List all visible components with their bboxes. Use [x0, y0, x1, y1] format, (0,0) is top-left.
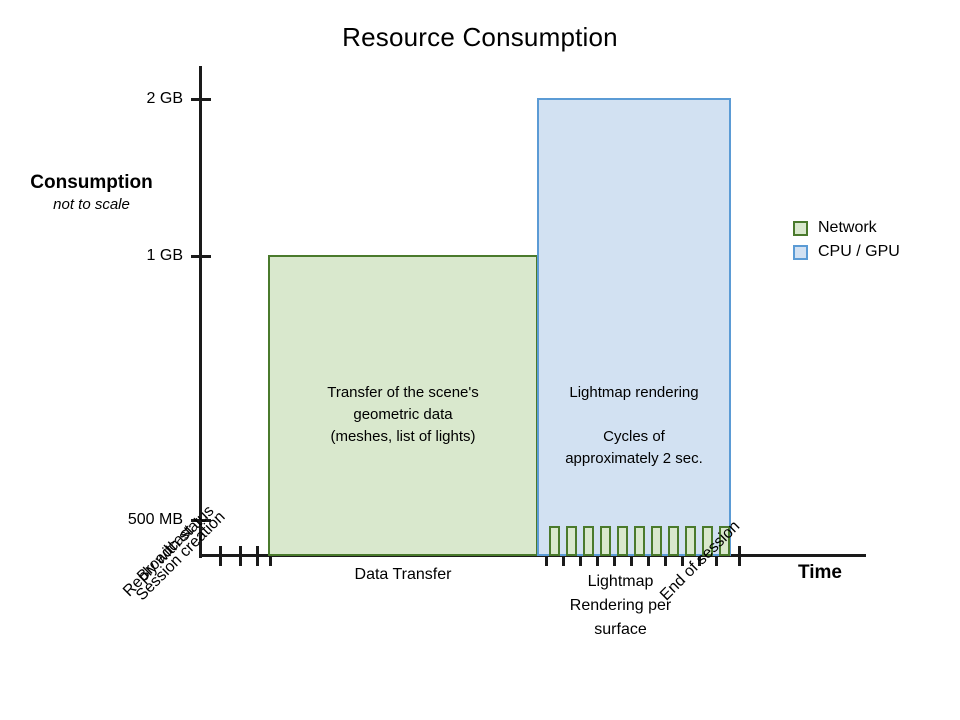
y-tick-label-1gb: 1 GB — [63, 248, 183, 264]
legend-swatch-network-icon — [793, 221, 808, 236]
cpu-gpu-consumption-box — [537, 98, 731, 556]
legend-swatch-cpu-gpu-icon — [793, 245, 808, 260]
network-spike-6 — [634, 526, 645, 556]
legend-label-network: Network — [818, 220, 877, 236]
y-axis-title-subtitle: not to scale — [0, 196, 183, 213]
x-tick-reply-with-status — [239, 546, 242, 566]
y-tick-label-500mb: 500 MB — [63, 512, 183, 528]
legend-label-cpu-gpu: CPU / GPU — [818, 244, 900, 260]
legend-item-cpu-gpu[interactable]: CPU / GPU — [793, 240, 900, 264]
x-axis-title: Time — [798, 562, 842, 584]
network-spike-1 — [549, 526, 560, 556]
network-spike-2 — [566, 526, 577, 556]
y-axis-line — [199, 66, 202, 558]
x-label-lightmap-rendering-per-surface: Lightmap Rendering per surface — [528, 570, 713, 642]
x-label-data-transfer: Data Transfer — [300, 563, 506, 587]
network-spike-3 — [583, 526, 594, 556]
network-box-caption: Transfer of the scene's geometric data (… — [270, 382, 536, 448]
network-spike-7 — [651, 526, 662, 556]
network-spike-5 — [617, 526, 628, 556]
legend-item-network[interactable]: Network — [793, 216, 900, 240]
y-axis-title-main: Consumption — [0, 172, 183, 194]
network-spike-4 — [600, 526, 611, 556]
y-tick-label-2gb: 2 GB — [63, 91, 183, 107]
legend: Network CPU / GPU — [793, 216, 900, 264]
x-tick-broadcast — [219, 546, 222, 566]
network-spike-8 — [668, 526, 679, 556]
y-tick-mark-2gb — [191, 98, 211, 101]
x-tick-session-creation — [256, 546, 259, 566]
chart-title: Resource Consumption — [0, 22, 960, 53]
chart-canvas: Resource Consumption 2 GB 1 GB 500 MB Co… — [0, 0, 960, 720]
y-tick-mark-1gb — [191, 255, 211, 258]
y-axis-title: Consumption not to scale — [0, 172, 183, 213]
network-spike-9 — [685, 526, 696, 556]
cpu-gpu-box-caption: Lightmap rendering Cycles of approximate… — [539, 382, 729, 470]
x-tick-end-of-session — [738, 546, 741, 566]
